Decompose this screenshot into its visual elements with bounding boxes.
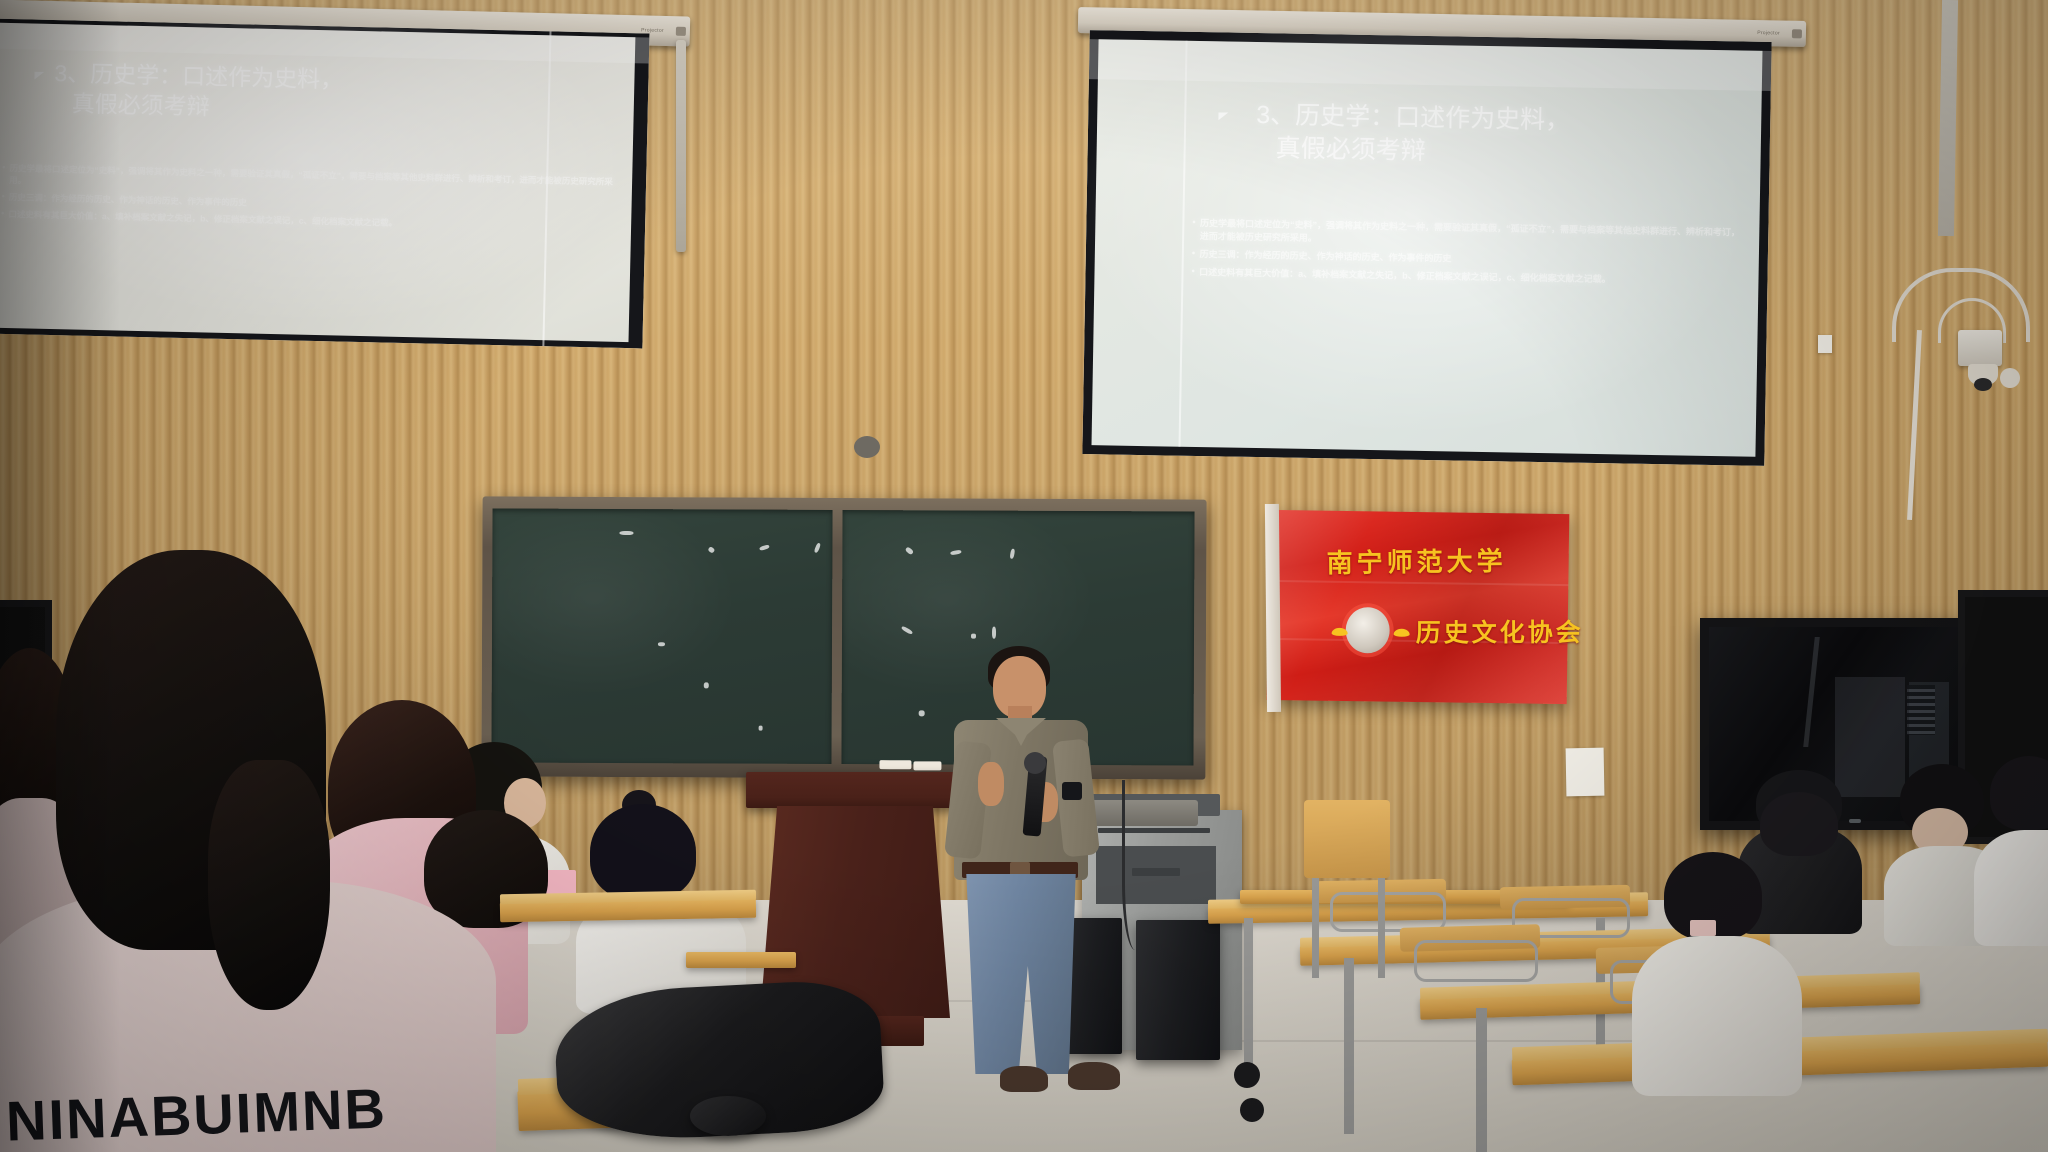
classroom-scene: Projector 3、历史学：口述作为史料， 真假必须考辩 • 历史学最将口述… (0, 0, 2048, 1152)
scene-vignette (0, 0, 2048, 1152)
left-edge-shadow (0, 0, 120, 1152)
